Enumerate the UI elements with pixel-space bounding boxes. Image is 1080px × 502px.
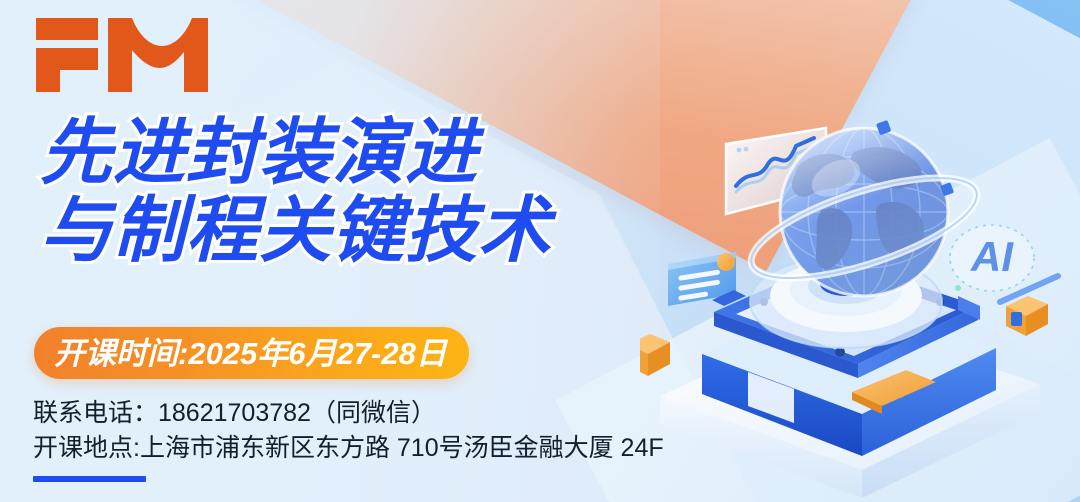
course-date-label: 开课时间:2025年6月27-28日 — [54, 338, 447, 369]
ai-badge-icon: AI — [950, 225, 1034, 291]
page-title: 先进封装演进 与制程关键技术 — [40, 112, 700, 272]
fm-logo-icon — [36, 18, 208, 92]
headline-line-1: 先进封装演进 — [40, 112, 700, 194]
illustration-svg: AI — [640, 40, 1080, 502]
accent-underline-bar — [33, 476, 146, 482]
svg-text:AI: AI — [970, 233, 1014, 280]
course-date-badge: 开课时间:2025年6月27-28日 — [34, 327, 469, 379]
headline-line-2: 与制程关键技术 — [40, 190, 700, 272]
contact-address: 开课地点:上海市浦东新区东方路 710号汤臣金融大厦 24F — [33, 431, 664, 466]
contact-info: 联系电话：18621703782（同微信） 开课地点:上海市浦东新区东方路 71… — [33, 396, 664, 466]
contact-phone: 联系电话：18621703782（同微信） — [33, 396, 664, 431]
hero-illustration: AI — [640, 40, 1080, 502]
course-promo-banner: AI — [0, 0, 1080, 502]
fm-logo — [36, 18, 208, 92]
